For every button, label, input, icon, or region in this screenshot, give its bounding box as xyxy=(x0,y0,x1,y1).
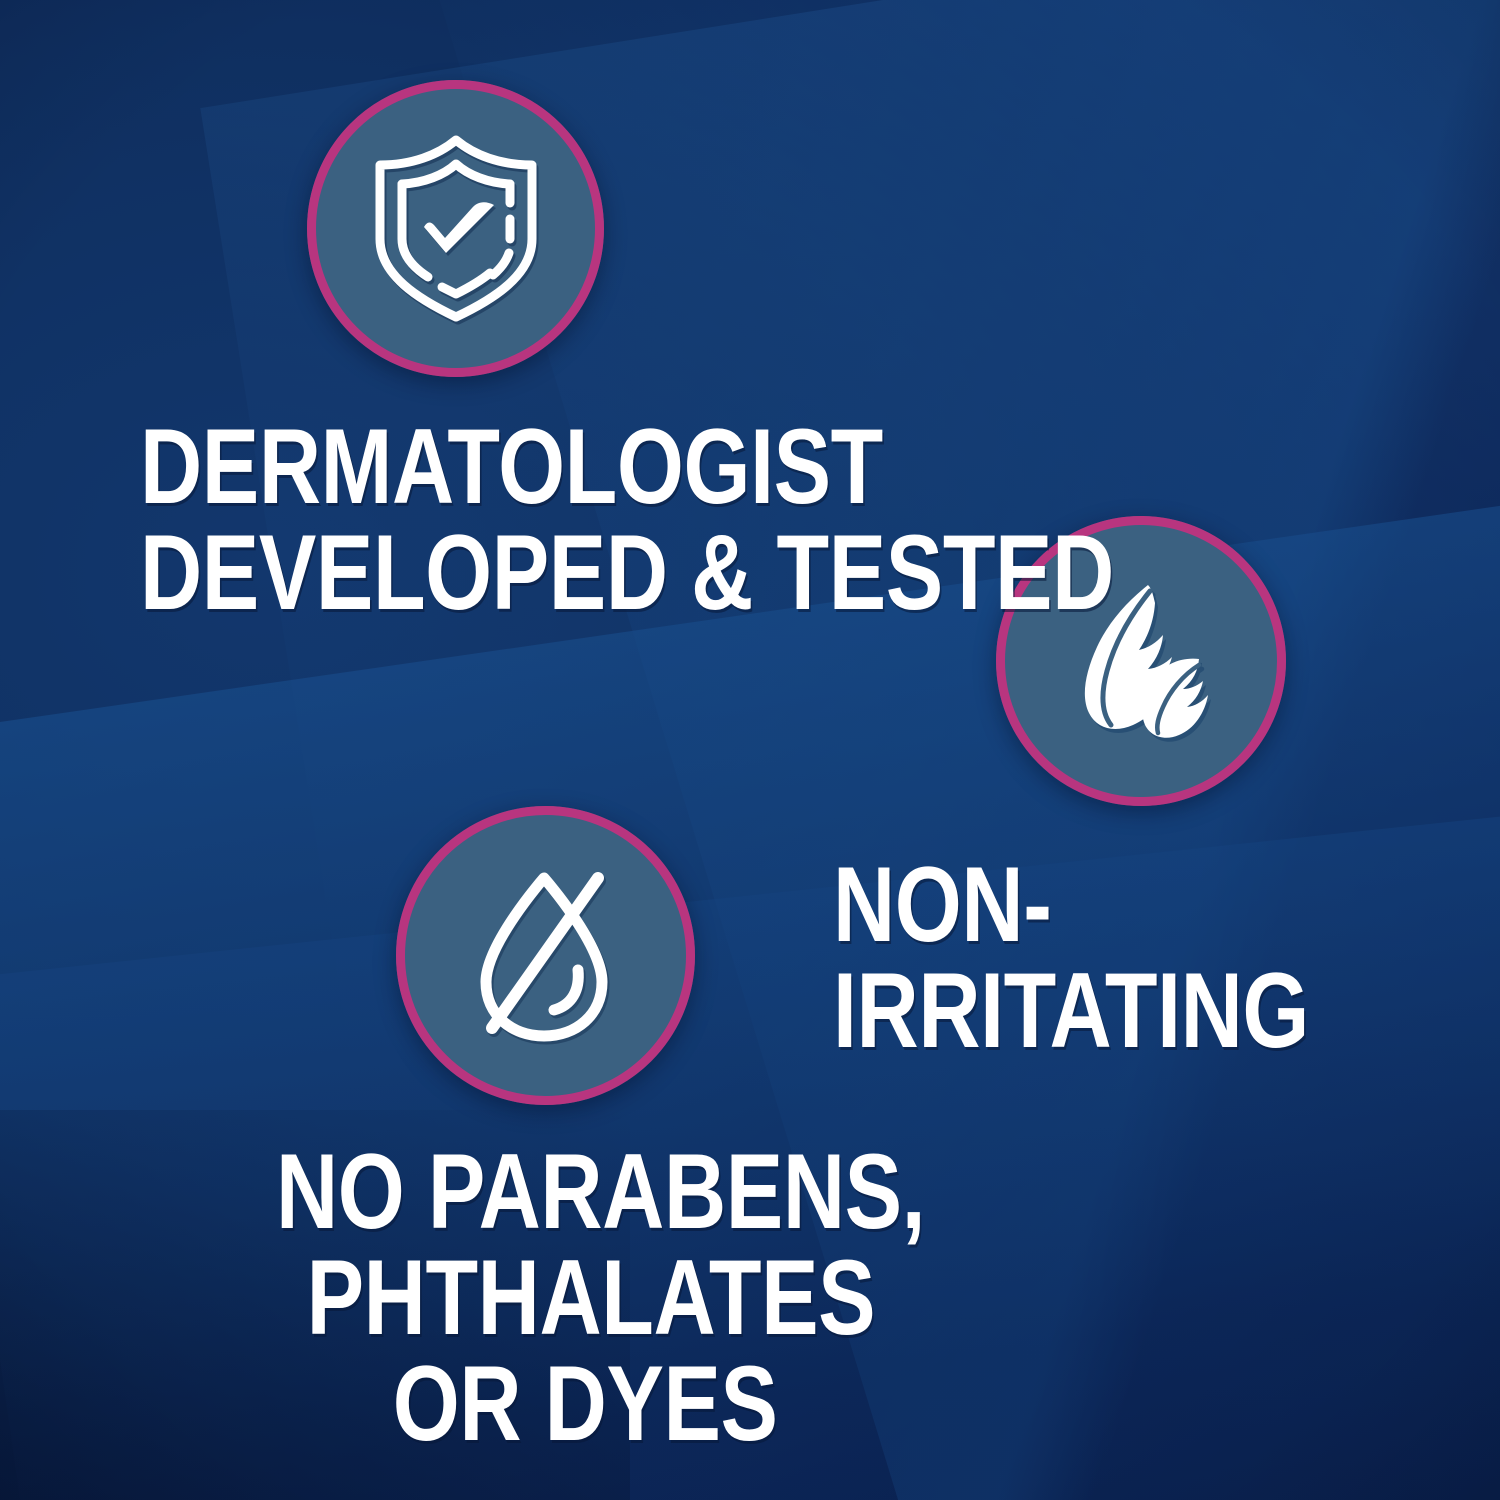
claim-label-dermatologist: DERMATOLOGISTDEVELOPED & TESTED xyxy=(140,414,1114,626)
claim-line-2: PHTHALATES xyxy=(276,1245,925,1351)
badge-no-parabens xyxy=(396,806,695,1105)
claim-label-non-irritating: NON-IRRITATING xyxy=(833,852,1370,1064)
claim-line-1: NON-IRRITATING xyxy=(833,844,1309,1070)
claim-label-no-parabens: NO PARABENS,PHTHALATESOR DYES xyxy=(276,1139,925,1457)
claim-line-1: NO PARABENS, xyxy=(276,1131,925,1251)
badge-dermatologist xyxy=(307,80,604,377)
claim-line-2: DEVELOPED & TESTED xyxy=(140,512,1114,632)
no-droplet-icon xyxy=(448,858,644,1054)
claim-line-3: OR DYES xyxy=(276,1351,925,1457)
shield-check-icon xyxy=(366,135,546,323)
benefits-graphic: DERMATOLOGISTDEVELOPED & TESTED NON-IRRI… xyxy=(0,0,1500,1500)
claim-line-1: DERMATOLOGIST xyxy=(140,406,883,526)
